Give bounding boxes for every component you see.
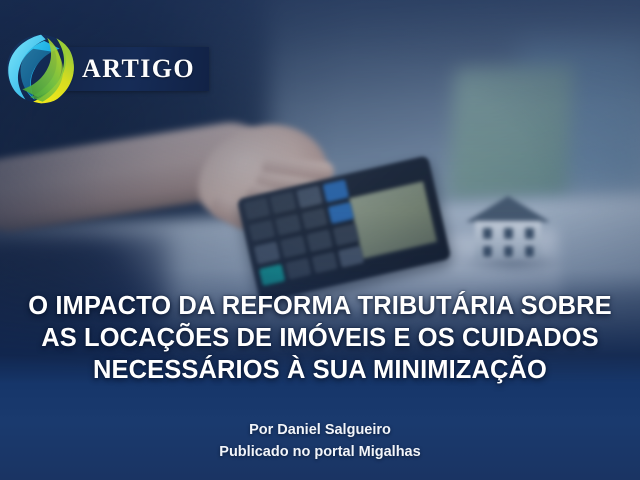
byline-author: Por Daniel Salgueiro — [0, 419, 640, 441]
headline-line-3: NECESSÁRIOS À SUA MINIMIZAÇÃO — [14, 354, 626, 386]
artigo-banner-label: ARTIGO — [82, 56, 195, 82]
article-byline: Por Daniel Salgueiro Publicado no portal… — [0, 419, 640, 463]
byline-publication: Publicado no portal Migalhas — [0, 441, 640, 463]
article-cover-card: ARTIGO — [0, 0, 640, 480]
swirl-globe-logo-icon — [2, 30, 80, 108]
article-headline: O IMPACTO DA REFORMA TRIBUTÁRIA SOBRE AS… — [0, 290, 640, 386]
headline-line-1: O IMPACTO DA REFORMA TRIBUTÁRIA SOBRE — [14, 290, 626, 322]
brand-lockup: ARTIGO — [2, 30, 212, 106]
headline-line-2: AS LOCAÇÕES DE IMÓVEIS E OS CUIDADOS — [14, 322, 626, 354]
